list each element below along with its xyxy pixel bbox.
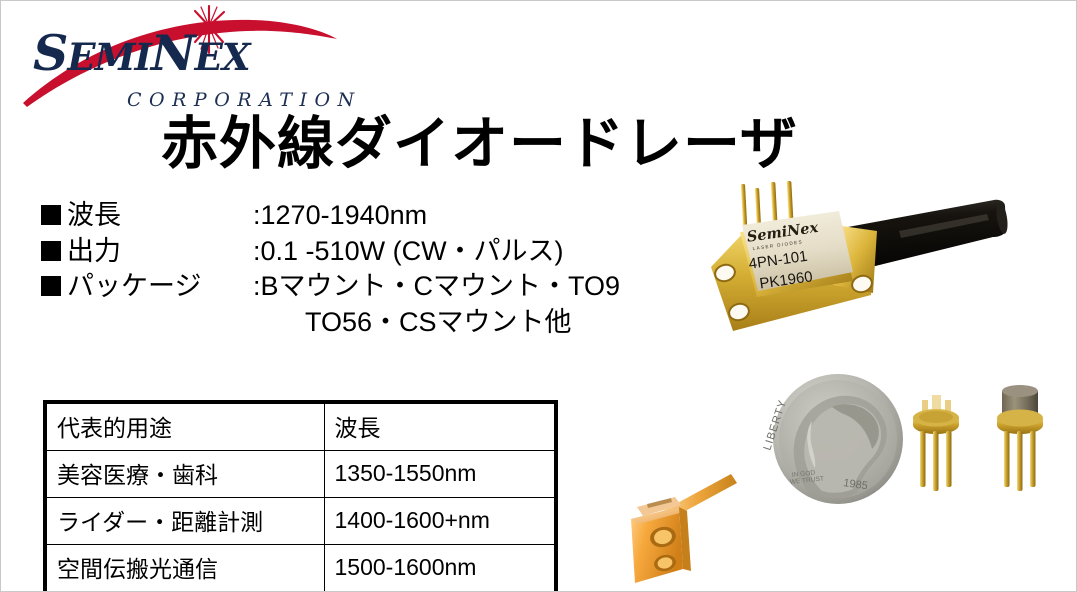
square-bullet-icon <box>41 241 61 261</box>
seminex-logo[interactable]: SEMINEX CORPORATION <box>15 5 345 115</box>
dime-and-to-can-photo-group: LIBERTY IN GOD WE TRUST 1985 <box>736 373 1077 533</box>
logo-brand-text: SEMINEX <box>33 29 250 78</box>
spec-row-wavelength: 波長 : 1270-1940nm <box>41 198 620 234</box>
table-header-application: 代表的用途 <box>45 402 324 451</box>
table-cell-wavelength: 1500-1600nm <box>324 545 556 592</box>
specification-list: 波長 : 1270-1940nm 出力 : 0.1 -510W (CW・パルス)… <box>41 198 620 341</box>
logo-brand-ex: EX <box>195 35 250 79</box>
spec-separator-package: : <box>253 269 261 305</box>
to-can-open-laser-diode <box>913 395 959 491</box>
spec-label-output-power: 出力 <box>67 234 253 270</box>
spec-separator-wavelength: : <box>253 198 261 234</box>
c-mount-laser-diode-photo <box>601 471 786 592</box>
square-bullet-icon <box>41 276 61 296</box>
spec-label-wavelength: 波長 <box>67 198 253 234</box>
square-bullet-icon <box>41 205 61 225</box>
table-row: 空間伝搬光通信 1500-1600nm <box>45 545 556 592</box>
table-row: 美容医療・歯科 1350-1550nm <box>45 451 556 498</box>
table-header-row: 代表的用途 波長 <box>45 402 556 451</box>
spec-value-output-power: 0.1 -510W (CW・パルス) <box>261 234 564 270</box>
butterfly-package-laser-photo: SemiNex LASER DIODES 4PN-101 PK1960 <box>687 173 1077 338</box>
logo-brand-s: S <box>33 24 67 82</box>
infrared-diode-laser-product-slide: SEMINEX CORPORATION 赤外線ダイオードレーザ 波長 : 127… <box>0 0 1077 592</box>
applications-table: 代表的用途 波長 美容医療・歯科 1350-1550nm ライダー・距離計測 1… <box>43 400 558 592</box>
table-header-wavelength: 波長 <box>324 402 556 451</box>
spec-value-wavelength: 1270-1940nm <box>261 198 428 234</box>
spec-label-package: パッケージ <box>67 269 253 305</box>
table-row: ライダー・距離計測 1400-1600+nm <box>45 498 556 545</box>
logo-corporation-text: CORPORATION <box>127 89 362 111</box>
page-title: 赤外線ダイオードレーザ <box>161 113 798 176</box>
spec-value-package: Bマウント・Cマウント・TO9 <box>261 269 621 305</box>
to-can-closed-laser-diode <box>997 385 1043 491</box>
table-cell-application: 美容医療・歯科 <box>45 451 324 498</box>
table-cell-wavelength: 1350-1550nm <box>324 451 556 498</box>
logo-brand-emi: EMI <box>67 35 150 79</box>
spec-separator-output-power: : <box>253 234 261 270</box>
table-cell-application: 空間伝搬光通信 <box>45 545 324 592</box>
table-cell-application: ライダー・距離計測 <box>45 498 324 545</box>
spec-row-package: パッケージ : Bマウント・Cマウント・TO9 <box>41 269 620 305</box>
logo-brand-n: N <box>151 24 195 82</box>
table-cell-wavelength: 1400-1600+nm <box>324 498 556 545</box>
spec-row-output-power: 出力 : 0.1 -510W (CW・パルス) <box>41 234 620 270</box>
spec-value-package-continued: TO56・CSマウント他 <box>41 305 620 341</box>
